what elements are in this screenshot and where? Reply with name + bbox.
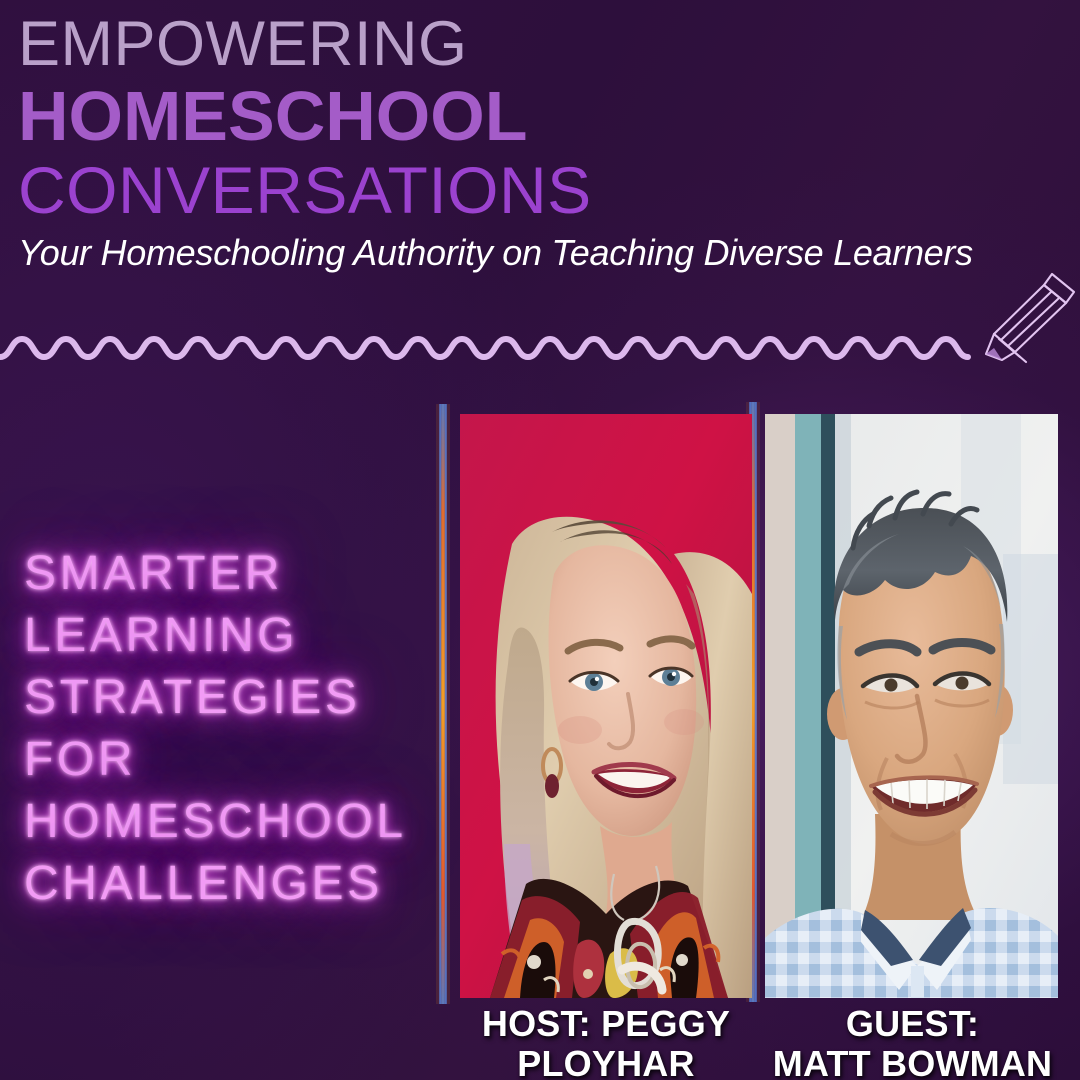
brand-line-homeschool: HOMESCHOOL [18, 81, 1062, 152]
pencil-icon [978, 268, 1080, 366]
episode-title-line-4: FOR [24, 729, 424, 791]
brand-logo-block: EMPOWERING HOMESCHOOL CONVERSATIONS Your… [18, 14, 1062, 272]
host-caption: HOST: PEGGY PLOYHAR [448, 1004, 764, 1080]
guest-caption: GUEST: MATT BOWMAN [760, 1004, 1065, 1080]
brand-line-conversations: CONVERSATIONS [18, 157, 1062, 223]
brand-line-empowering: EMPOWERING [18, 14, 1062, 75]
episode-title-line-1: SMARTER [24, 543, 424, 605]
brand-tagline: Your Homeschooling Authority on Teaching… [18, 233, 1062, 273]
episode-title-line-5: HOMESCHOOL [24, 791, 424, 853]
wavy-underline-icon [0, 325, 1080, 371]
podcast-cover-canvas: EMPOWERING HOMESCHOOL CONVERSATIONS Your… [0, 0, 1080, 1080]
episode-title-line-3: STRATEGIES [24, 667, 424, 729]
episode-title-line-2: LEARNING [24, 605, 424, 667]
guest-photo [765, 414, 1058, 998]
episode-title: SMARTER LEARNING STRATEGIES FOR HOMESCHO… [24, 543, 424, 915]
episode-title-line-6: CHALLENGES [24, 853, 424, 915]
light-streak-left [432, 404, 454, 1004]
host-photo [460, 414, 752, 998]
